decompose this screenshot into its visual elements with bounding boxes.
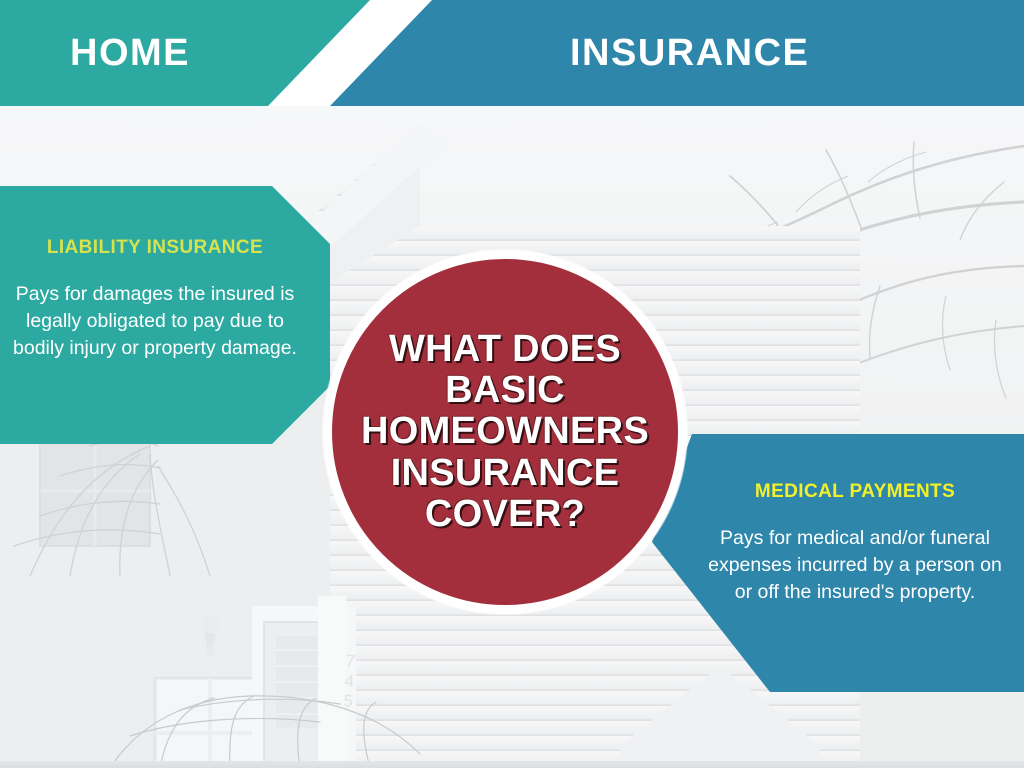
header-label-insurance: INSURANCE — [570, 0, 809, 106]
panel-liability-body: Pays for damages the insured is legally … — [12, 281, 298, 362]
panel-medical-payments: MEDICAL PAYMENTS Pays for medical and/or… — [640, 434, 1024, 692]
center-question-circle: WHAT DOES BASIC HOMEOWNERS INSURANCE COV… — [323, 250, 687, 614]
svg-text:4: 4 — [344, 671, 355, 691]
svg-text:7: 7 — [345, 651, 356, 671]
header-label-home: HOME — [70, 0, 190, 106]
panel-liability-insurance: LIABILITY INSURANCE Pays for damages the… — [0, 186, 330, 444]
center-question-text: WHAT DOES BASIC HOMEOWNERS INSURANCE COV… — [347, 329, 663, 534]
infographic-poster: 7 4 5 HOME INSU — [0, 0, 1024, 768]
panel-medical-title: MEDICAL PAYMENTS — [698, 482, 1012, 503]
panel-liability-title: LIABILITY INSURANCE — [12, 238, 298, 259]
panel-medical-body: Pays for medical and/or funeral expenses… — [698, 525, 1012, 606]
header-band: HOME INSURANCE — [0, 0, 1024, 106]
